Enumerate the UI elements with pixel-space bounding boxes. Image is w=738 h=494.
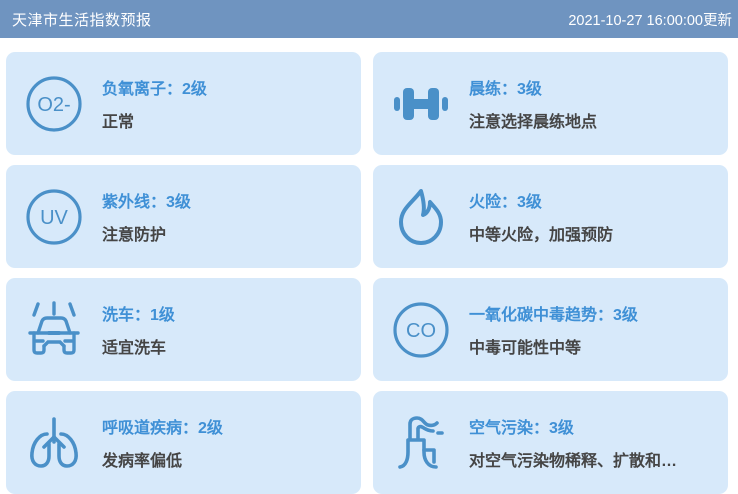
update-timestamp: 2021-10-27 16:00:00更新 bbox=[568, 9, 732, 30]
index-card-car-wash[interactable]: 洗车：1级 适宜洗车 bbox=[6, 278, 361, 381]
index-card-fire-risk[interactable]: 火险：3级 中等火险，加强预防 bbox=[373, 165, 728, 268]
index-card-text: 空气污染：3级 对空气污染物稀释、扩散和… bbox=[469, 414, 685, 471]
index-card-description: 中毒可能性中等 bbox=[469, 334, 638, 358]
index-card-carbon-monoxide[interactable]: CO 一氧化碳中毒趋势：3级 中毒可能性中等 bbox=[373, 278, 728, 381]
index-card-text: 负氧离子：2级 正常 bbox=[102, 75, 215, 132]
index-card-uv[interactable]: UV 紫外线：3级 注意防护 bbox=[6, 165, 361, 268]
uv-icon-label: UV bbox=[40, 207, 68, 229]
index-card-title: 呼吸道疾病：2级 bbox=[102, 414, 223, 438]
index-card-description: 注意选择晨练地点 bbox=[469, 108, 597, 132]
lungs-icon bbox=[6, 391, 102, 494]
index-card-air-pollution[interactable]: 空气污染：3级 对空气污染物稀释、扩散和… bbox=[373, 391, 728, 494]
index-card-description: 对空气污染物稀释、扩散和… bbox=[469, 447, 677, 471]
index-card-text: 紫外线：3级 注意防护 bbox=[102, 188, 199, 245]
index-card-title: 一氧化碳中毒趋势：3级 bbox=[469, 301, 638, 325]
negative-oxygen-ion-icon: O2- bbox=[6, 52, 102, 155]
index-card-text: 洗车：1级 适宜洗车 bbox=[102, 301, 183, 358]
car-wash-icon bbox=[6, 278, 102, 381]
negative-oxygen-ion-icon-label: O2- bbox=[37, 94, 70, 116]
dumbbell-icon bbox=[373, 52, 469, 155]
index-card-text: 呼吸道疾病：2级 发病率偏低 bbox=[102, 414, 231, 471]
index-card-title: 负氧离子：2级 bbox=[102, 75, 207, 99]
page-header: 天津市生活指数预报 2021-10-27 16:00:00更新 bbox=[0, 0, 738, 38]
life-index-forecast-page: 天津市生活指数预报 2021-10-27 16:00:00更新 O2- 负氧离子… bbox=[0, 0, 738, 485]
index-card-title: 洗车：1级 bbox=[102, 301, 175, 325]
index-card-description: 适宜洗车 bbox=[102, 334, 175, 358]
carbon-monoxide-icon-label: CO bbox=[406, 320, 436, 342]
uv-icon: UV bbox=[6, 165, 102, 268]
index-card-grid: O2- 负氧离子：2级 正常 晨练：3级 注意选择晨练地 bbox=[0, 38, 738, 494]
index-card-text: 一氧化碳中毒趋势：3级 中毒可能性中等 bbox=[469, 301, 646, 358]
flame-icon bbox=[373, 165, 469, 268]
index-card-title: 紫外线：3级 bbox=[102, 188, 191, 212]
index-card-description: 发病率偏低 bbox=[102, 447, 223, 471]
index-card-text: 晨练：3级 注意选择晨练地点 bbox=[469, 75, 605, 132]
page-title: 天津市生活指数预报 bbox=[12, 9, 152, 30]
index-card-title: 晨练：3级 bbox=[469, 75, 597, 99]
index-card-title: 火险：3级 bbox=[469, 188, 613, 212]
carbon-monoxide-icon: CO bbox=[373, 278, 469, 381]
factory-smokestack-icon bbox=[373, 391, 469, 494]
index-card-title: 空气污染：3级 bbox=[469, 414, 677, 438]
index-card-description: 注意防护 bbox=[102, 221, 191, 245]
index-card-text: 火险：3级 中等火险，加强预防 bbox=[469, 188, 621, 245]
index-card-description: 中等火险，加强预防 bbox=[469, 221, 613, 245]
index-card-morning-exercise[interactable]: 晨练：3级 注意选择晨练地点 bbox=[373, 52, 728, 155]
index-card-respiratory-disease[interactable]: 呼吸道疾病：2级 发病率偏低 bbox=[6, 391, 361, 494]
index-card-description: 正常 bbox=[102, 108, 207, 132]
index-card-negative-oxygen-ion[interactable]: O2- 负氧离子：2级 正常 bbox=[6, 52, 361, 155]
